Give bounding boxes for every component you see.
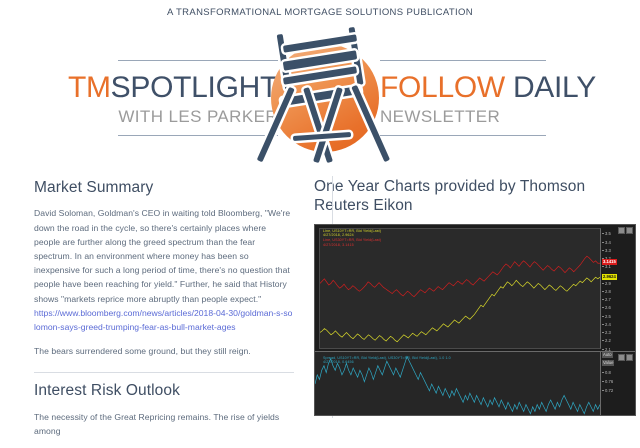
spotlight-subtitle: WITH LES PARKER — [60, 108, 278, 125]
yields-y-axis[interactable]: 3.53.43.33.23.13.02.92.82.72.62.52.42.32… — [601, 225, 635, 351]
logo-rule-top-right — [380, 60, 546, 61]
axis-value-tag: 3.1415 — [602, 259, 617, 265]
left-column: Market Summary David Soloman, Goldman's … — [0, 170, 302, 448]
spread-legend: Spread, US10YT=RR, Bid Yield(Last), US30… — [323, 356, 451, 365]
bloomberg-article-link[interactable]: https://www.bloomberg.com/news/articles/… — [34, 306, 294, 334]
right-column: One Year Charts provided by Thomson Reut… — [302, 170, 640, 448]
market-summary-closing: The bears surrendered some ground, but t… — [34, 344, 294, 358]
logo-rule-bottom-right — [380, 135, 546, 136]
follow-daily-wordmark: FOLLOW DAILY — [380, 73, 616, 103]
chart-window-buttons[interactable] — [618, 227, 633, 234]
axis-tick: 2.6 — [605, 305, 611, 310]
market-summary-title: Market Summary — [34, 178, 294, 197]
section-divider — [34, 372, 294, 373]
interest-risk-paragraph: The necessity of the Great Repricing rem… — [34, 410, 294, 438]
axis-tick: 0.72 — [605, 388, 613, 393]
spotlight-logo: TMSPOTLIGHT WITH LES PARKER — [60, 60, 278, 136]
minimize-icon[interactable] — [618, 227, 625, 234]
newsletter-subtitle: NEWSLETTER — [380, 108, 616, 125]
spread-window-buttons[interactable] — [618, 354, 633, 361]
axis-tick: 0.76 — [605, 379, 613, 384]
axis-tick: 2.4 — [605, 322, 611, 327]
legend-line-4: 4/27/2018, 3.1415 — [323, 243, 381, 248]
axis-auto-tag[interactable]: Auto — [602, 352, 613, 358]
axis-value-header: Value — [602, 360, 614, 366]
interest-risk-title: Interest Risk Outlook — [34, 381, 294, 400]
logo-rule-bottom-left — [118, 135, 278, 136]
axis-tick: 2.3 — [605, 330, 611, 335]
daily-word: DAILY — [513, 71, 596, 104]
yields-panel[interactable]: Line, US10YT=RR, Bid Yield(Last) 4/27/20… — [315, 225, 635, 352]
spread-legend-line-2: 4/27/2018, 0.6456 — [323, 360, 451, 365]
directors-chair-icon — [259, 30, 391, 170]
spread-minimize-icon[interactable] — [618, 354, 625, 361]
axis-tick: 3.4 — [605, 240, 611, 245]
follow-daily-logo: FOLLOW DAILY NEWSLETTER — [380, 60, 616, 136]
maximize-icon[interactable] — [626, 227, 633, 234]
market-summary-paragraph: David Soloman, Goldman's CEO in waiting … — [34, 206, 294, 305]
charts-title: One Year Charts provided by Thomson Reut… — [314, 177, 636, 216]
spread-maximize-icon[interactable] — [626, 354, 633, 361]
axis-tick: 0.8 — [605, 370, 611, 375]
eikon-chart[interactable]: Line, US10YT=RR, Bid Yield(Last) 4/27/20… — [314, 224, 636, 416]
yields-legend: Line, US10YT=RR, Bid Yield(Last) 4/27/20… — [323, 229, 381, 247]
newsletter-page: A TRANSFORMATIONAL MORTGAGE SOLUTIONS PU… — [0, 0, 640, 426]
publication-tagline: A TRANSFORMATIONAL MORTGAGE SOLUTIONS PU… — [0, 0, 640, 18]
axis-tick: 3.5 — [605, 231, 611, 236]
logo-rule-top-left — [118, 60, 278, 61]
spotlight-main: SPOTLIGHT — [111, 71, 278, 104]
spotlight-prefix: TM — [68, 71, 111, 104]
legend-line-3: Line, US30YT=RR, Bid Yield(Last) — [323, 238, 381, 243]
axis-tick: 2.8 — [605, 289, 611, 294]
content-area: Market Summary David Soloman, Goldman's … — [0, 170, 640, 448]
axis-tick: 2.9 — [605, 281, 611, 286]
axis-tick: 3.1 — [605, 264, 611, 269]
spread-panel[interactable]: Spread, US10YT=RR, Bid Yield(Last), US30… — [315, 352, 635, 416]
axis-tick: 2.5 — [605, 314, 611, 319]
axis-tick: 3.3 — [605, 248, 611, 253]
axis-tick: 2.7 — [605, 297, 611, 302]
axis-value-tag: 2.9624 — [602, 274, 617, 280]
follow-word: FOLLOW — [380, 71, 505, 104]
axis-tick: 2.2 — [605, 338, 611, 343]
spread-y-axis[interactable]: 0.840.80.760.72AutoValue — [601, 352, 635, 416]
masthead: A TRANSFORMATIONAL MORTGAGE SOLUTIONS PU… — [0, 0, 640, 170]
spotlight-wordmark: TMSPOTLIGHT — [60, 73, 278, 103]
logo-band: TMSPOTLIGHT WITH LES PARKER FOLLOW DAILY… — [0, 22, 640, 170]
